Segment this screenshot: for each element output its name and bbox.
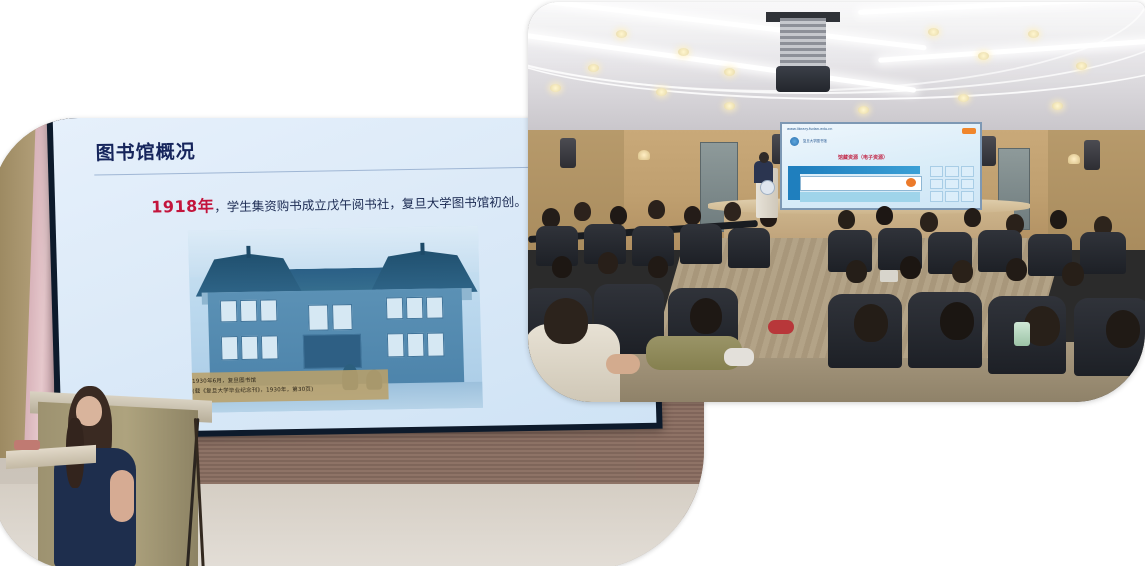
foreground-attendee-hand [606, 354, 640, 374]
screen-side-nav [788, 166, 800, 200]
library-logo-icon [790, 137, 799, 146]
recessed-downlight [1076, 62, 1087, 70]
projection-screen: www.library.fudan.edu.cn 复旦大学图书馆 馆藏资源（电子… [780, 122, 982, 210]
audience-head [900, 256, 921, 279]
caption-line-2: (载《复旦大学毕业纪念刊》，1930年，第30页) [192, 385, 382, 398]
recessed-downlight [724, 102, 735, 110]
building-window [220, 300, 238, 322]
audience-seat[interactable] [680, 224, 722, 264]
right-photo-lecture-hall: www.library.fudan.edu.cn 复旦大学图书馆 馆藏资源（电子… [528, 2, 1145, 402]
stage-podium-emblem-icon [760, 180, 775, 195]
audience-head [920, 212, 938, 232]
screen-nav-bar [800, 166, 920, 174]
wall-loudspeaker [560, 138, 576, 168]
building-window [241, 336, 259, 360]
audience-head [648, 200, 665, 219]
slide-year-highlight: 1918年 [151, 196, 215, 216]
screen-badge [962, 128, 976, 134]
audience-seat[interactable] [1080, 232, 1126, 274]
recessed-downlight [1028, 30, 1039, 38]
attendee-phone-screen [1014, 322, 1030, 346]
building-window [427, 332, 445, 356]
slide-title-rule [94, 166, 594, 176]
building-left-finial [246, 246, 250, 258]
foreground-attendee-head [544, 298, 588, 344]
grid-cell [945, 179, 958, 190]
recessed-downlight [858, 106, 869, 114]
audience-head [724, 202, 741, 221]
slide-body-sentence: ，学生集资购书成立戊午阅书社，复旦大学图书馆初创。 [214, 194, 527, 214]
grid-cell [945, 166, 958, 177]
audience-head [1006, 258, 1027, 281]
audience-head [598, 252, 618, 274]
audience-head [690, 298, 722, 334]
screen-resource-grid [930, 166, 974, 202]
audience-head [542, 208, 560, 228]
audience-head [1062, 262, 1084, 286]
screen-search-icon [906, 178, 916, 187]
recessed-downlight [978, 52, 989, 60]
historic-library-building-photo: 1930年6月，复旦图书馆 (载《复旦大学毕业纪念刊》，1930年，第30页) [188, 226, 483, 413]
recessed-downlight [928, 28, 939, 36]
building-window [240, 300, 258, 322]
audience-head [1106, 310, 1140, 348]
building-window [407, 333, 425, 357]
audience-head [940, 302, 974, 340]
grid-cell [930, 179, 943, 190]
building-right-finial [420, 243, 424, 255]
grid-cell [961, 179, 974, 190]
screen-url-text: www.library.fudan.edu.cn [787, 127, 832, 131]
audience-head [648, 256, 668, 278]
building-window [386, 297, 404, 319]
screen-content-block [800, 192, 920, 202]
building-entrance [303, 334, 362, 369]
recessed-downlight [550, 84, 561, 92]
audience-head [846, 260, 867, 283]
grid-cell [945, 191, 958, 202]
photo-collage-canvas: 图书馆概况 1918年，学生集资购书成立戊午阅书社，复旦大学图书馆初创。 [0, 0, 1145, 566]
building-window [260, 299, 278, 321]
building-photo-caption: 1930年6月，复旦图书馆 (载《复旦大学毕业纪念刊》，1930年，第30页) [188, 370, 389, 403]
screen-site-label: 复旦大学图书馆 [803, 138, 827, 143]
audience-head [952, 260, 973, 283]
audience-seat[interactable] [728, 228, 770, 268]
building-window [221, 336, 239, 360]
wall-sconce [638, 150, 650, 160]
grid-cell [961, 191, 974, 202]
stage-speaker-head [759, 152, 769, 163]
grid-cell [930, 191, 943, 202]
audience-head [1050, 210, 1067, 229]
screen-search-field [800, 176, 922, 191]
building-window [387, 333, 405, 357]
recessed-downlight [678, 48, 689, 56]
recessed-downlight [656, 88, 667, 96]
attendee-red-shoe [768, 320, 794, 334]
wall-loudspeaker [980, 136, 996, 166]
building-center-window [308, 304, 329, 330]
audience-head [610, 206, 627, 225]
recessed-downlight [616, 30, 627, 38]
recessed-downlight [958, 94, 969, 102]
projector-scissor-mount [780, 18, 826, 68]
slide-title: 图书馆概况 [95, 137, 196, 166]
audience-head [574, 202, 591, 221]
audience-head [838, 210, 855, 229]
building-window [406, 297, 424, 319]
grid-cell [930, 166, 943, 177]
audience-head [876, 206, 893, 225]
audience-head [854, 304, 888, 342]
audience-head [552, 256, 572, 278]
recessed-downlight [1052, 102, 1063, 110]
screen-heading: 馆藏资源（电子资源） [838, 154, 888, 161]
audience-head [964, 208, 981, 227]
audience-head [684, 206, 701, 225]
building-window [261, 335, 279, 359]
ceiling-projector-icon [776, 66, 830, 92]
grid-cell [961, 166, 974, 177]
building-center-window [332, 304, 353, 330]
attendee-laptop [880, 270, 898, 282]
attendee-shoe [724, 348, 754, 366]
wall-sconce [1068, 154, 1080, 164]
building-window [426, 296, 444, 318]
recessed-downlight [588, 64, 599, 72]
speaker-arm [110, 470, 134, 522]
recessed-downlight [724, 68, 735, 76]
wall-loudspeaker [1084, 140, 1100, 170]
table-object [14, 440, 40, 450]
